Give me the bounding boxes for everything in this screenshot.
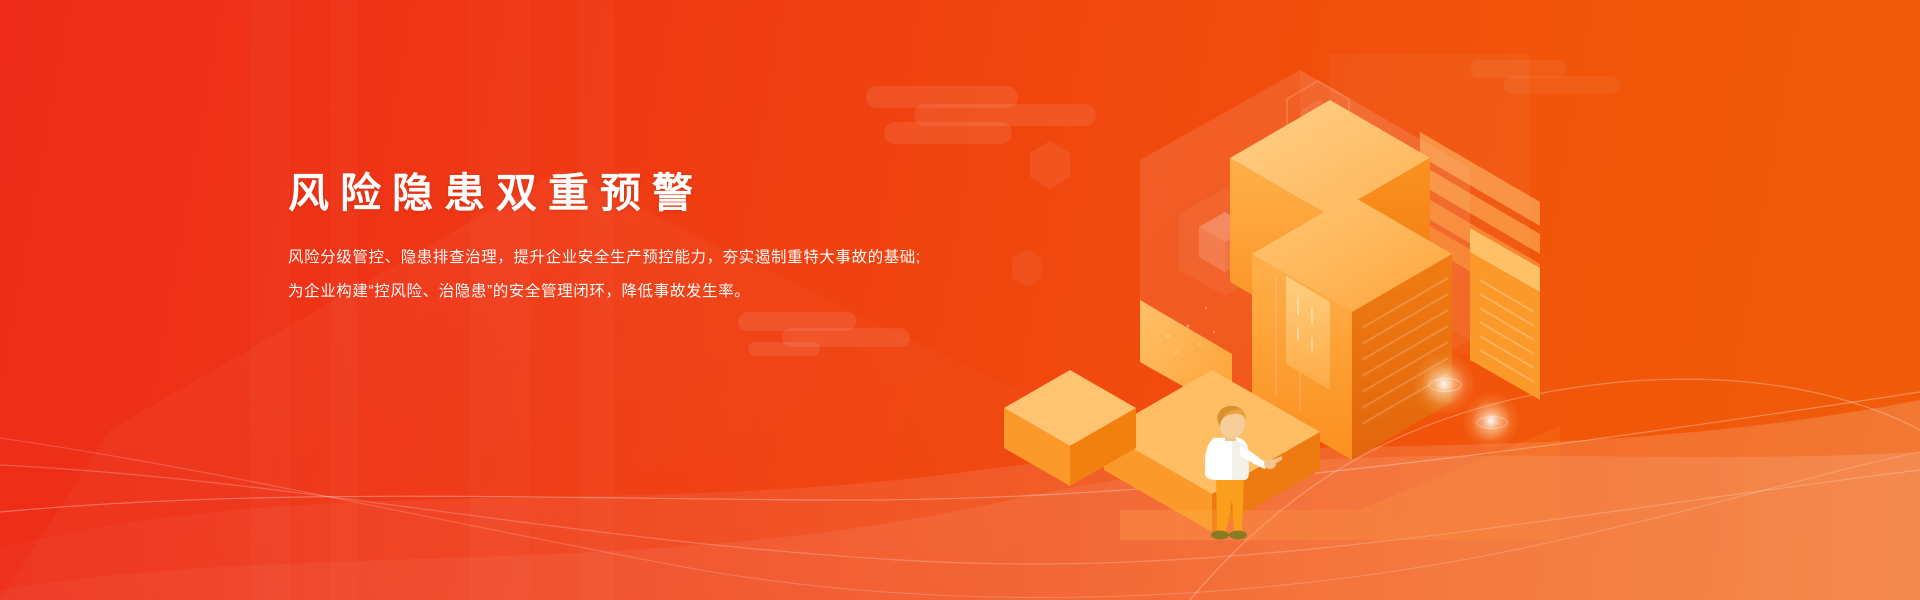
hexagon-motif bbox=[1283, 78, 1353, 158]
hexagon-motif bbox=[1028, 140, 1072, 190]
hexagon-motif bbox=[1010, 248, 1044, 288]
small-cube-right bbox=[1070, 408, 1136, 486]
hero-subtitle: 风险分级管控、隐患排查治理，提升企业安全生产预控能力，夯实遏制重特大事故的基础;… bbox=[288, 219, 988, 309]
small-cube-left bbox=[1004, 408, 1070, 486]
main-tower-right bbox=[1352, 254, 1452, 460]
cloud-motif bbox=[866, 86, 1096, 144]
glow-point bbox=[1462, 392, 1520, 450]
subtitle-line: 风险分级管控、隐患排查治理，提升企业安全生产预控能力，夯实遏制重特大事故的基础; bbox=[288, 241, 988, 275]
back-tower-left bbox=[1230, 158, 1330, 340]
person-shoe bbox=[1211, 531, 1229, 540]
person-shoe bbox=[1229, 531, 1247, 540]
slab bbox=[1420, 194, 1540, 284]
slab bbox=[1420, 164, 1540, 254]
cube-motif bbox=[1175, 186, 1275, 298]
subtitle-line: 为企业构建“控风险、治隐患”的安全管理闭环，降低事故发生率。 bbox=[288, 275, 988, 309]
glow-point bbox=[1412, 352, 1476, 416]
cloud-motif bbox=[738, 312, 910, 354]
tower-louvres bbox=[1362, 278, 1448, 424]
ghost-block bbox=[1140, 70, 1470, 438]
cloud-motif bbox=[1470, 60, 1620, 100]
panel-ticks bbox=[1298, 298, 1312, 352]
rack-left bbox=[1470, 252, 1540, 400]
light-band bbox=[250, 0, 290, 600]
glow-point-ring bbox=[1476, 416, 1508, 429]
back-tower-top bbox=[1230, 100, 1430, 216]
tower-panel bbox=[1286, 276, 1330, 390]
main-tower-top bbox=[1252, 196, 1452, 312]
slab bbox=[1420, 132, 1540, 226]
slab bbox=[1430, 226, 1540, 312]
back-tower-right bbox=[1330, 158, 1430, 340]
page-title: 风险隐患双重预警 bbox=[288, 168, 988, 219]
rack-top bbox=[1470, 228, 1540, 292]
ghost-block bbox=[1300, 70, 1470, 340]
small-cube-top bbox=[1004, 370, 1136, 446]
tower-edge-lines bbox=[1276, 278, 1300, 410]
person-finger bbox=[1272, 456, 1282, 465]
person-pointing bbox=[1192, 404, 1282, 564]
hero-copy: 风险隐患双重预警 风险分级管控、隐患排查治理，提升企业安全生产预控能力，夯实遏制… bbox=[288, 168, 988, 309]
ghost-block bbox=[1330, 54, 1530, 354]
rack-slots bbox=[1480, 280, 1534, 382]
hexagon-motif bbox=[1265, 170, 1327, 242]
speckle-dots bbox=[1167, 307, 1215, 353]
hero-banner: 风险隐患双重预警 风险分级管控、隐患排查治理，提升企业安全生产预控能力，夯实遏制… bbox=[0, 0, 1920, 600]
glow-point-ring bbox=[1428, 378, 1462, 392]
person-pants bbox=[1216, 476, 1244, 532]
floor-plane bbox=[1120, 426, 1560, 540]
